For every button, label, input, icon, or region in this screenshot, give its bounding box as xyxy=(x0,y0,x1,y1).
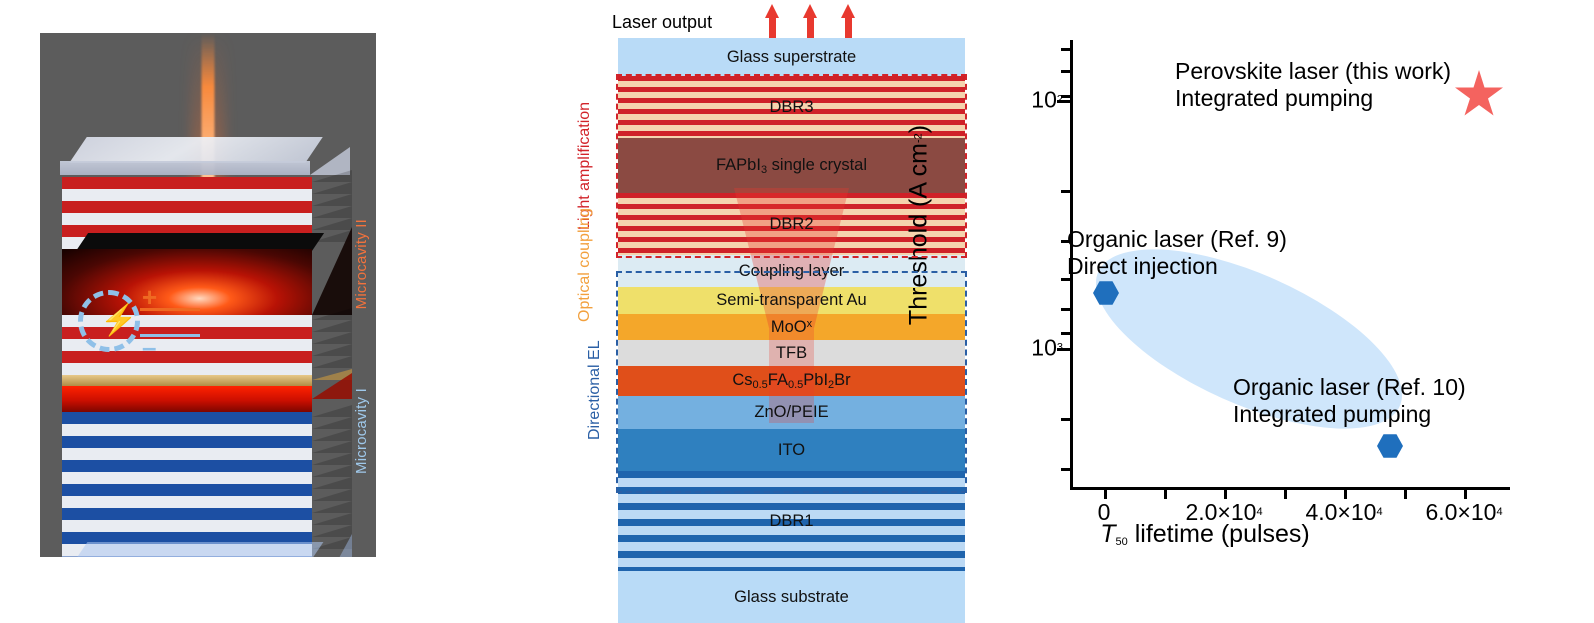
dbr1-plate-3d xyxy=(62,508,352,520)
directional-el-label: Directional EL xyxy=(587,300,603,480)
dbr1-plate-3d xyxy=(62,412,352,424)
data-point-organic-ref10 xyxy=(1377,433,1403,459)
benchmark-chart-panel: 102 103 0 2.0×104 4.0×104 6.0×104 Perovs… xyxy=(985,0,1594,590)
layer-tfb: TFB xyxy=(618,340,965,366)
dbr1-plate-3d xyxy=(62,448,352,460)
plot-area: 102 103 0 2.0×104 4.0×104 6.0×104 Perovs… xyxy=(1070,40,1510,490)
dbr1-plate-3d xyxy=(62,520,352,532)
layer-label: TFB xyxy=(776,344,807,363)
gold-contact-3d xyxy=(62,375,352,386)
laser-output-arrow xyxy=(803,4,817,38)
layer-label: ITO xyxy=(778,441,805,460)
glass-substrate-3d xyxy=(62,556,352,557)
layer-label: Glass superstrate xyxy=(727,48,856,67)
negative-terminal-label: – xyxy=(142,332,156,363)
microcavity-i-label: Microcavity I xyxy=(353,388,370,474)
annotation-organic-ref9: Organic laser (Ref. 9) Direct injection xyxy=(1067,226,1287,280)
laser-output-label: Laser output xyxy=(612,12,712,33)
figure-root: ⚡ + – Microcavity II Microcavity I Laser… xyxy=(0,0,1594,590)
layer-label: DBR2 xyxy=(769,215,813,234)
layer-label: Semi-transparent Au xyxy=(716,291,866,310)
dbr1-plate-3d xyxy=(62,436,352,448)
layer-glass-superstrate: Glass superstrate xyxy=(618,38,965,76)
microcavity-ii-label: Microcavity II xyxy=(353,219,370,309)
laser-output-arrow xyxy=(765,4,779,38)
dbr1-plate-3d xyxy=(62,484,352,496)
dbr1-plate-3d xyxy=(62,472,352,484)
data-point-perovskite-this-work xyxy=(1454,70,1504,120)
x-axis-title: T50 lifetime (pulses) xyxy=(1100,520,1310,549)
render-stage: ⚡ + – Microcavity II Microcavity I xyxy=(40,33,376,557)
dbr3-plate-3d xyxy=(62,189,352,201)
layer-label: DBR3 xyxy=(769,98,813,117)
annotation-perovskite: Perovskite laser (this work) Integrated … xyxy=(1175,58,1451,112)
y-tick-label: 103 xyxy=(1031,335,1063,362)
dbr3-plate-3d xyxy=(62,213,352,225)
layer-glass-substrate: Glass substrate xyxy=(618,571,965,623)
y-axis-title: Threshold (A cm-2) xyxy=(905,125,934,325)
dbr1-plate-3d xyxy=(62,424,352,436)
layer-label: Cs0.5FA0.5PbI2Br xyxy=(732,371,850,391)
layer-label: Glass substrate xyxy=(734,588,849,607)
layer-zno-peie: ZnO/PEIE xyxy=(618,396,965,429)
device-3d-render-panel: ⚡ + – Microcavity II Microcavity I xyxy=(40,33,376,557)
layer-label: DBR1 xyxy=(769,512,813,531)
power-source-icon: ⚡ + – xyxy=(78,276,196,368)
y-tick-label: 102 xyxy=(1031,87,1063,114)
dbr3-plate-3d xyxy=(62,201,352,213)
dbr3-plate-3d xyxy=(62,177,352,189)
annotation-organic-ref10: Organic laser (Ref. 10) Integrated pumpi… xyxy=(1233,374,1466,428)
lightning-bolt-icon: ⚡ xyxy=(100,308,137,334)
layer-label: MoOx xyxy=(771,318,812,337)
laser-output-arrow xyxy=(841,4,855,38)
positive-terminal-label: + xyxy=(142,282,157,313)
layer-label: FAPbI3 single crystal xyxy=(716,156,867,176)
layer-label: ZnO/PEIE xyxy=(754,403,828,422)
x-tick-label: 6.0×104 xyxy=(1425,499,1502,526)
el-emission-3d xyxy=(62,386,352,412)
x-tick-label: 4.0×104 xyxy=(1305,499,1382,526)
layer-perovskite-el: Cs0.5FA0.5PbI2Br xyxy=(618,366,965,396)
layer-ito: ITO xyxy=(618,429,965,471)
glass-superstrate-3d xyxy=(60,137,352,177)
dbr1-plate-3d xyxy=(62,496,352,508)
x-axis xyxy=(1070,487,1510,490)
layer-dbr1: DBR1 xyxy=(618,471,965,571)
dbr1-plate-3d xyxy=(62,460,352,472)
layer-label: Coupling layer xyxy=(739,262,844,281)
